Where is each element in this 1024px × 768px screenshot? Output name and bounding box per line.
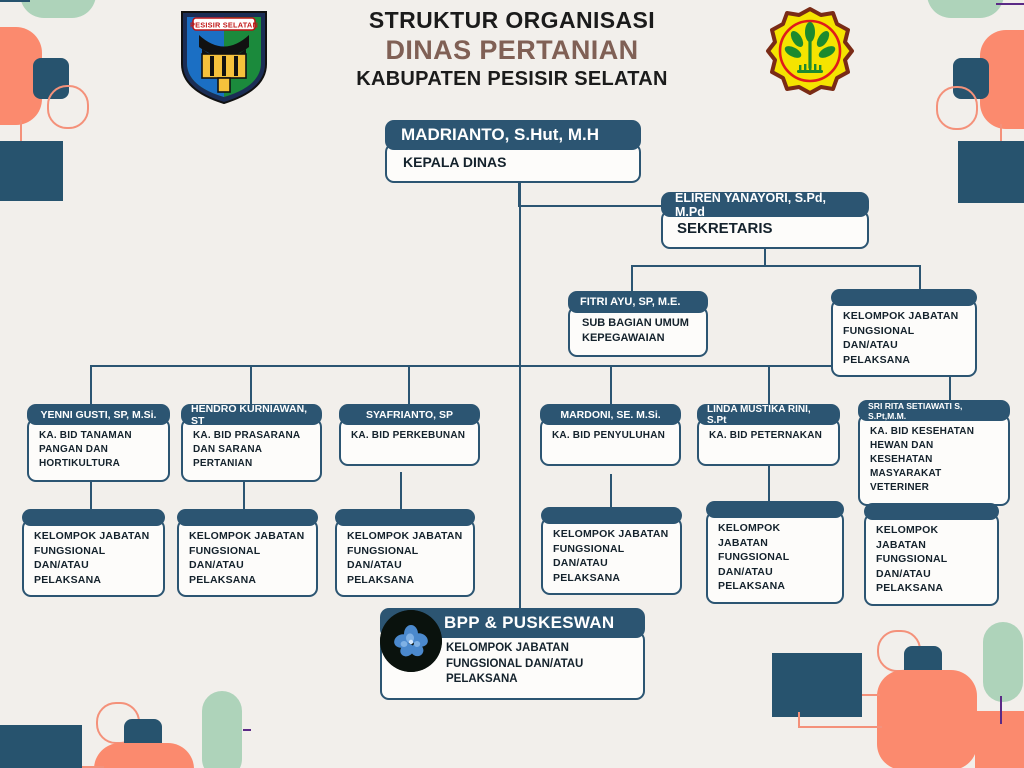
node-bidang-tanaman-pangan[interactable]: YENNI GUSTI, SP, M.Si. KA. BID TANAMAN P… — [27, 404, 170, 482]
node-bidang-perkebunan[interactable]: SYAFRIANTO, SP KA. BID PERKEBUNAN — [339, 404, 480, 466]
node-bidang-1-role: KA. BID TANAMAN PANGAN DAN HORTIKULTURA — [27, 418, 170, 482]
node-kepala-dinas[interactable]: MADRIANTO, S.Hut, M.H KEPALA DINAS — [385, 120, 641, 183]
deco-coral-blob-bottom-left — [94, 743, 194, 768]
node-kelompok-1-bar — [22, 509, 165, 526]
deco-navy-block-left — [0, 141, 63, 201]
node-kelompok-sekretaris-label: KELOMPOK JABATAN FUNGSIONAL DAN/ATAU PEL… — [831, 299, 977, 377]
node-kelompok-4-label: KELOMPOK JABATAN FUNGSIONAL DAN/ATAU PEL… — [541, 517, 682, 595]
node-kelompok-6-bar — [864, 503, 999, 520]
connector-bid5-kelompok — [768, 466, 770, 502]
connector-kepala-spine — [519, 172, 521, 612]
page-title-line1: STRUKTUR ORGANISASI — [0, 6, 1024, 34]
deco-purple-tick-bottom-left — [243, 729, 251, 731]
deco-thin-line-bottom-right-c — [798, 712, 800, 728]
node-sub-bagian-umum-kepegawaian[interactable]: FITRI AYU, SP, M.E. SUB BAGIAN UMUM KEPE… — [568, 291, 708, 357]
node-kelompok-2-label: KELOMPOK JABATAN FUNGSIONAL DAN/ATAU PEL… — [177, 519, 318, 597]
connector-drop-bid1 — [90, 365, 92, 404]
node-bidang-peternakan[interactable]: LINDA MUSTIKA RINI, S.Pt KA. BID PETERNA… — [697, 404, 840, 466]
node-kelompok-1-label: KELOMPOK JABATAN FUNGSIONAL DAN/ATAU PEL… — [22, 519, 165, 597]
kementerian-pertanian-logo — [765, 6, 855, 96]
node-kelompok-jabatan-3[interactable]: KELOMPOK JABATAN FUNGSIONAL DAN/ATAU PEL… — [335, 509, 475, 597]
node-kelompok-5-bar — [706, 501, 844, 518]
node-bidang-3-name: SYAFRIANTO, SP — [339, 404, 480, 425]
node-kelompok-5-label: KELOMPOK JABATAN FUNGSIONAL DAN/ATAU PEL… — [706, 511, 844, 604]
connector-bidang-bar — [90, 365, 950, 367]
node-kelompok-jabatan-4[interactable]: KELOMPOK JABATAN FUNGSIONAL DAN/ATAU PEL… — [541, 507, 682, 595]
deco-thin-line-top-left — [20, 120, 22, 142]
connector-drop-bid2 — [250, 365, 252, 404]
node-kelompok-jabatan-5[interactable]: KELOMPOK JABATAN FUNGSIONAL DAN/ATAU PEL… — [706, 501, 844, 604]
node-bpp-puskeswan[interactable]: BPP & PUSKESWAN KELOMPOK JABATAN FUNGSIO… — [380, 608, 645, 700]
node-sekretaris-name: ELIREN YANAYORI, S.Pd, M.Pd — [661, 192, 869, 217]
poster-header: STRUKTUR ORGANISASI DINAS PERTANIAN KABU… — [0, 6, 1024, 92]
node-kelompok-jabatan-2[interactable]: KELOMPOK JABATAN FUNGSIONAL DAN/ATAU PEL… — [177, 509, 318, 597]
node-bidang-kesehatan-hewan[interactable]: SRI RITA SETIAWATI S, S.Pt,M.M. KA. BID … — [858, 400, 1010, 506]
connector-bid3-kelompok — [400, 472, 402, 510]
node-sekretaris[interactable]: ELIREN YANAYORI, S.Pd, M.Pd SEKRETARIS — [661, 192, 869, 249]
node-sub-bagian-name: FITRI AYU, SP, M.E. — [568, 291, 708, 313]
deco-navy-block-bottom-left — [0, 725, 82, 768]
node-kelompok-jabatan-sekretaris[interactable]: KELOMPOK JABATAN FUNGSIONAL DAN/ATAU PEL… — [831, 289, 977, 377]
connector-to-kelompok-sekretaris — [919, 265, 921, 291]
node-bidang-2-role: KA. BID PRASARANA DAN SARANA PERTANIAN — [181, 418, 322, 482]
node-bidang-6-role: KA. BID KESEHATAN HEWAN DAN KESEHATAN MA… — [858, 414, 1010, 506]
node-bidang-prasarana-sarana[interactable]: HENDRO KURNIAWAN, ST KA. BID PRASARANA D… — [181, 404, 322, 482]
node-kelompok-2-bar — [177, 509, 318, 526]
node-kelompok-6-label: KELOMPOK JABATAN FUNGSIONAL DAN/ATAU PEL… — [864, 513, 999, 606]
node-sub-bagian-role-line2: KEPEGAWAIAN — [582, 331, 694, 346]
node-bidang-4-role: KA. BID PENYULUHAN — [540, 418, 681, 466]
connector-to-sekretaris — [518, 205, 666, 207]
deco-navy-block-bottom-right — [772, 653, 862, 717]
node-bidang-4-name: MARDONI, SE. M.Si. — [540, 404, 681, 425]
node-kelompok-3-bar — [335, 509, 475, 526]
node-kelompok-jabatan-1[interactable]: KELOMPOK JABATAN FUNGSIONAL DAN/ATAU PEL… — [22, 509, 165, 597]
connector-drop-bid3 — [408, 365, 410, 404]
node-bidang-3-role: KA. BID PERKEBUNAN — [339, 418, 480, 466]
node-bidang-6-name: SRI RITA SETIAWATI S, S.Pt,M.M. — [858, 400, 1010, 421]
deco-thin-line-bottom-right-b — [798, 726, 882, 728]
node-bidang-1-name: YENNI GUSTI, SP, M.Si. — [27, 404, 170, 425]
connector-drop-bid5 — [768, 365, 770, 404]
connector-sekretaris-bracket — [631, 265, 920, 267]
deco-purple-line-bottom-right — [1000, 696, 1002, 724]
blue-flower-photo — [380, 610, 442, 672]
deco-navy-block-right — [958, 141, 1024, 203]
node-kelompok-jabatan-6[interactable]: KELOMPOK JABATAN FUNGSIONAL DAN/ATAU PEL… — [864, 503, 999, 606]
svg-text:PESISIR SELATAN: PESISIR SELATAN — [190, 21, 258, 30]
deco-outline-square-top-right — [936, 86, 978, 130]
node-kelompok-sekretaris-bar — [831, 289, 977, 306]
node-bidang-2-name: HENDRO KURNIAWAN, ST — [181, 404, 322, 425]
node-kelompok-3-label: KELOMPOK JABATAN FUNGSIONAL DAN/ATAU PEL… — [335, 519, 475, 597]
connector-bid4-kelompok — [610, 474, 612, 508]
deco-coral-blob-bottom-right — [877, 670, 977, 768]
node-bidang-penyuluhan[interactable]: MARDONI, SE. M.Si. KA. BID PENYULUHAN — [540, 404, 681, 466]
deco-mint-rect-bottom-right — [983, 622, 1023, 702]
deco-thin-line-left-edge — [0, 0, 30, 2]
organization-chart-poster: STRUKTUR ORGANISASI DINAS PERTANIAN KABU… — [0, 0, 1024, 768]
node-sub-bagian-role-line1: SUB BAGIAN UMUM — [582, 316, 694, 331]
page-title-line3: KABUPATEN PESISIR SELATAN — [0, 66, 1024, 92]
connector-drop-bid4 — [610, 365, 612, 404]
deco-thin-line-bottom-right-a — [862, 694, 880, 696]
pesisir-selatan-crest-logo: PESISIR SELATAN — [176, 6, 272, 106]
node-kepala-dinas-name: MADRIANTO, S.Hut, M.H — [385, 120, 641, 150]
node-sub-bagian-role: SUB BAGIAN UMUM KEPEGAWAIAN — [568, 306, 708, 357]
deco-mint-rect-bottom-left — [202, 691, 242, 768]
deco-purple-line-top-right — [996, 3, 1024, 5]
page-title-line2: DINAS PERTANIAN — [0, 34, 1024, 66]
node-bidang-5-name: LINDA MUSTIKA RINI, S.Pt — [697, 404, 840, 425]
node-kelompok-4-bar — [541, 507, 682, 524]
